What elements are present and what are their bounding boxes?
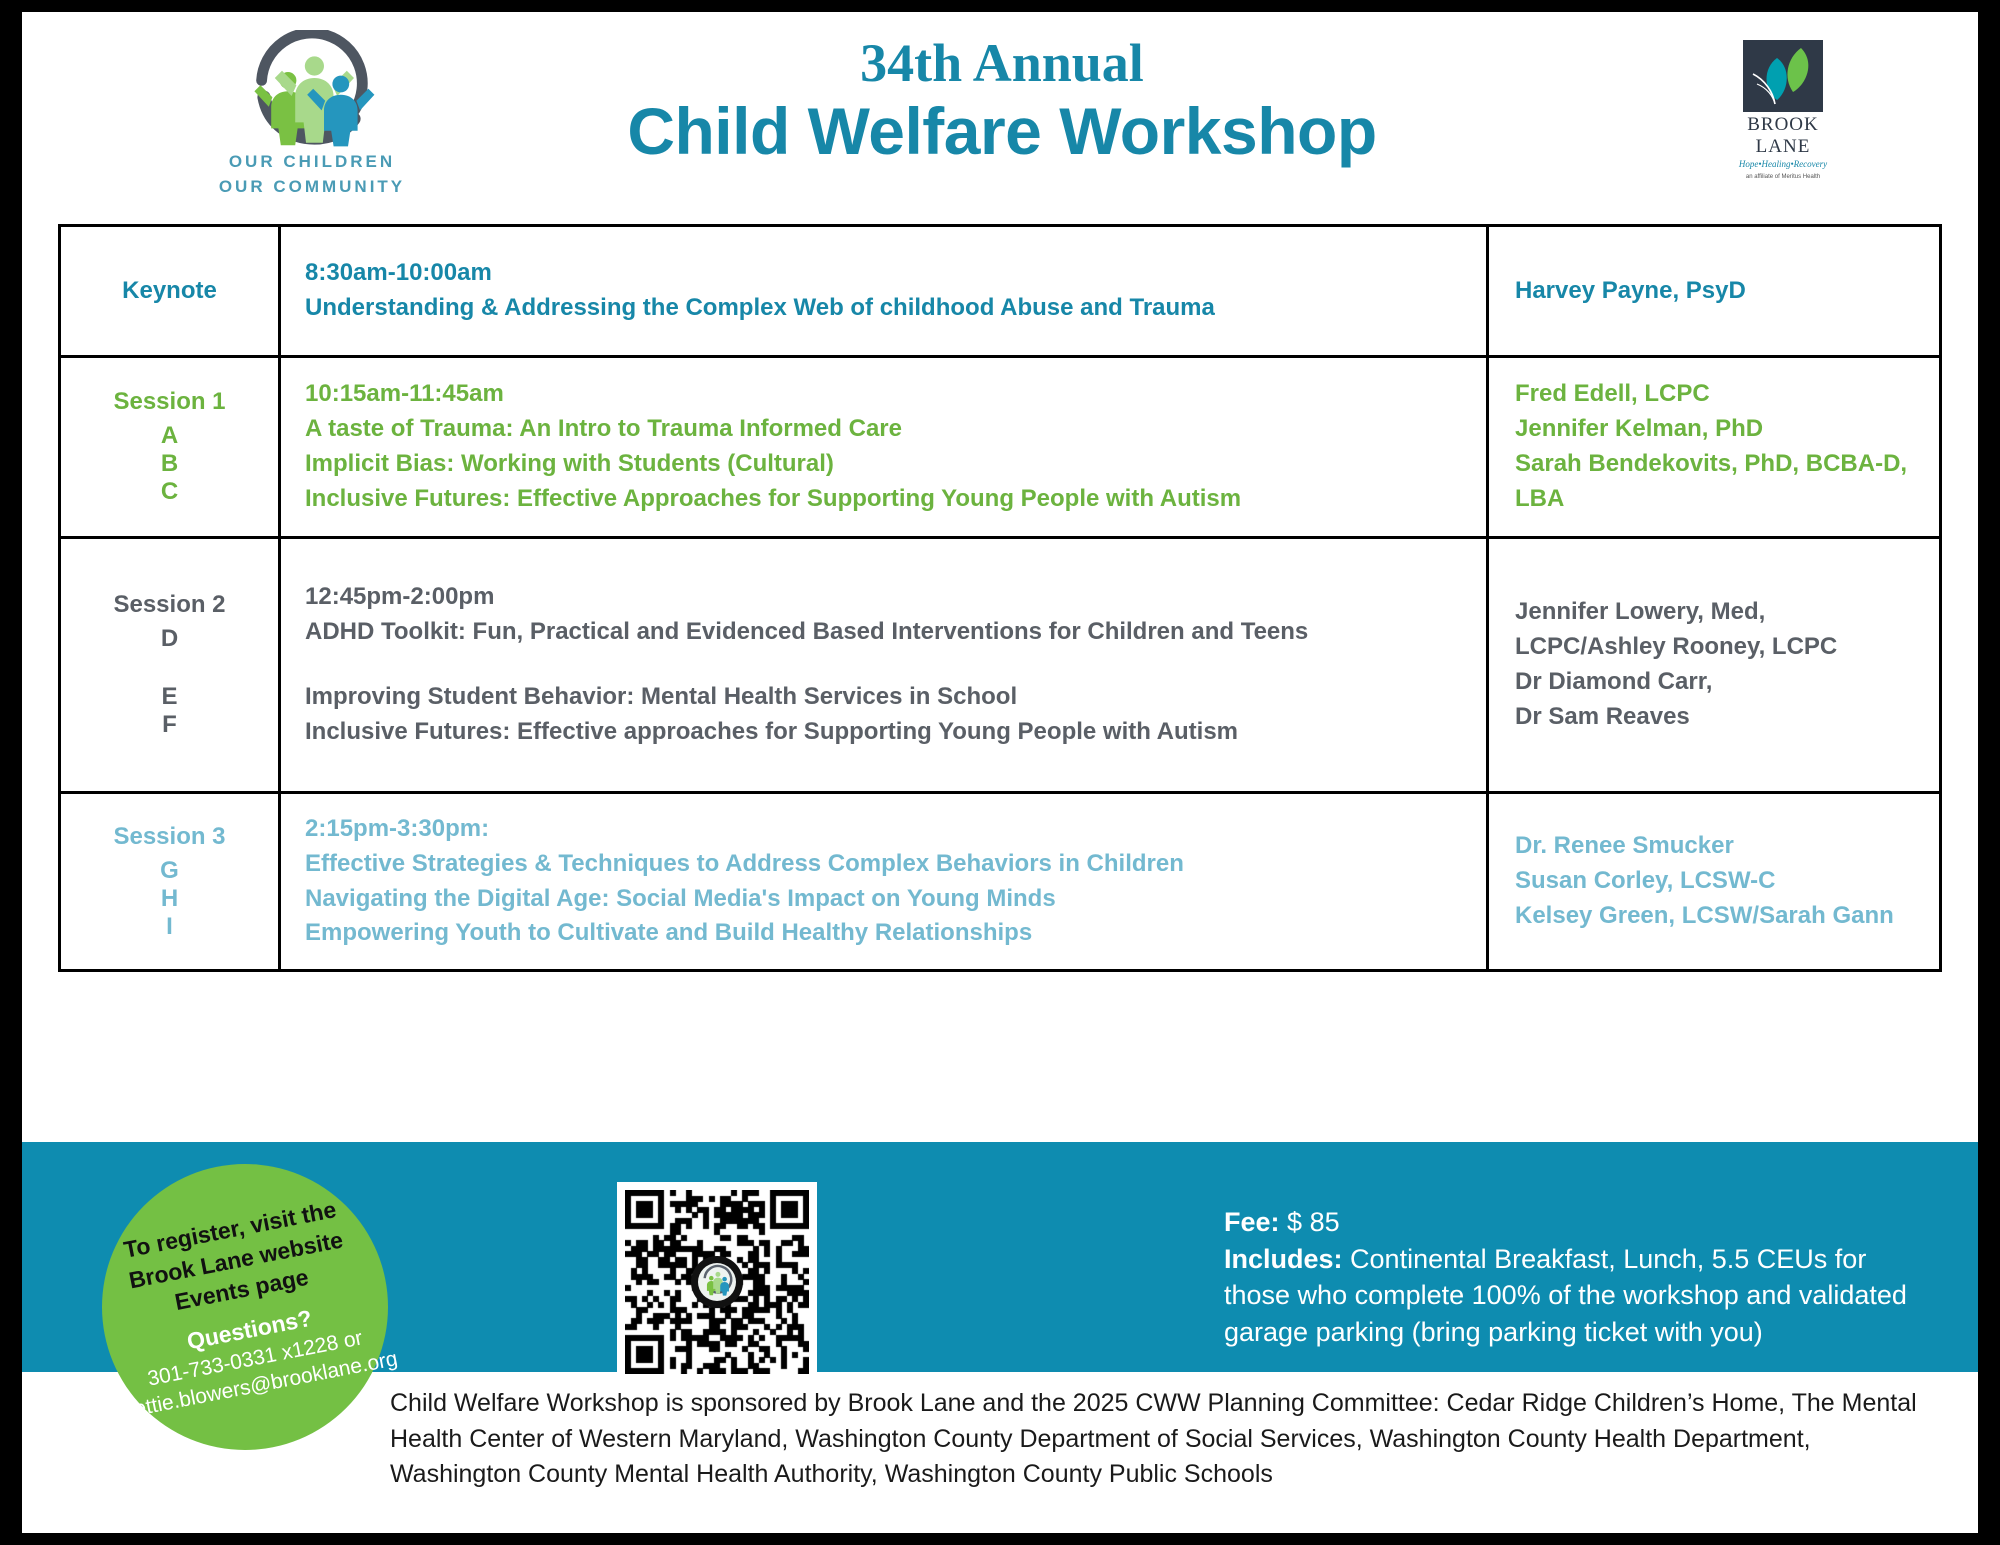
header: OUR CHILDREN OUR COMMUNITY 34th Annual C… xyxy=(22,12,1978,217)
session-title: Understanding & Addressing the Complex W… xyxy=(305,291,1462,326)
session-letter: D xyxy=(67,625,272,653)
session-title: Improving Student Behavior: Mental Healt… xyxy=(305,680,1462,715)
session-letter: I xyxy=(67,913,272,941)
sponsor-footer: Child Welfare Workshop is sponsored by B… xyxy=(390,1386,1948,1493)
presenter-name: LCPC/Ashley Rooney, LCPC xyxy=(1515,630,1913,665)
logo-tagline-line2: OUR COMMUNITY xyxy=(182,175,442,200)
row-label-session-2: Session 2 D E F xyxy=(61,539,281,791)
fee-info: Fee: $ 85 Includes: Continental Breakfas… xyxy=(1224,1204,1914,1351)
session-letter: B xyxy=(67,450,272,478)
our-children-logo-icon xyxy=(237,30,387,150)
brook-lane-affiliate: an affiliate of Meritus Health xyxy=(1708,174,1858,180)
session-title: ADHD Toolkit: Fun, Practical and Evidenc… xyxy=(305,615,1462,650)
schedule-table: Keynote 8:30am-10:00am Understanding & A… xyxy=(58,224,1942,972)
row-presenters-session-2: Jennifer Lowery, Med, LCPC/Ashley Rooney… xyxy=(1489,539,1939,791)
presenter-name: Sarah Bendekovits, PhD, BCBA-D, xyxy=(1515,447,1913,482)
title-block: 34th Annual Child Welfare Workshop xyxy=(502,36,1502,173)
session-title: Inclusive Futures: Effective Approaches … xyxy=(305,482,1462,517)
session-time: 2:15pm-3:30pm: xyxy=(305,812,1462,847)
session-title: A taste of Trauma: An Intro to Trauma In… xyxy=(305,412,1462,447)
presenter-name: Jennifer Kelman, PhD xyxy=(1515,412,1913,447)
session-time: 12:45pm-2:00pm xyxy=(305,580,1462,615)
session-time: 8:30am-10:00am xyxy=(305,256,1462,291)
session-letter: C xyxy=(67,478,272,506)
row-label-keynote: Keynote xyxy=(61,227,281,355)
row-label-session-1: Session 1 A B C xyxy=(61,358,281,536)
presenter-name: Dr Sam Reaves xyxy=(1515,700,1913,735)
presenter-name: Dr Diamond Carr, xyxy=(1515,665,1913,700)
presenter-name: Susan Corley, LCSW-C xyxy=(1515,864,1913,899)
page-title: Child Welfare Workshop xyxy=(502,90,1502,173)
our-children-our-community-logo: OUR CHILDREN OUR COMMUNITY xyxy=(182,30,442,199)
brook-lane-name-line2: LANE xyxy=(1708,137,1858,156)
session-letter: E xyxy=(67,683,272,711)
session-title: Effective Strategies & Techniques to Add… xyxy=(305,847,1462,882)
session-title: Inclusive Futures: Effective approaches … xyxy=(305,715,1462,750)
table-row: Session 1 A B C 10:15am-11:45am A taste … xyxy=(61,358,1939,539)
row-presenters-keynote: Harvey Payne, PsyD xyxy=(1489,227,1939,355)
includes-label: Includes: xyxy=(1224,1244,1343,1274)
session-time: 10:15am-11:45am xyxy=(305,377,1462,412)
row-presenters-session-3: Dr. Renee Smucker Susan Corley, LCSW-C K… xyxy=(1489,794,1939,969)
logo-tagline-line1: OUR CHILDREN xyxy=(182,150,442,175)
table-row: Session 2 D E F 12:45pm-2:00pm ADHD Tool… xyxy=(61,539,1939,794)
flyer-page: OUR CHILDREN OUR COMMUNITY 34th Annual C… xyxy=(22,12,1978,1533)
brook-lane-tagline: Hope•Healing•Recovery xyxy=(1708,159,1858,169)
session-title: Empowering Youth to Cultivate and Build … xyxy=(305,916,1462,951)
fee-label: Fee: xyxy=(1224,1207,1280,1237)
row-sessions-session-1: 10:15am-11:45am A taste of Trauma: An In… xyxy=(281,358,1489,536)
register-callout[interactable]: To register, visit the Brook Lane websit… xyxy=(102,1164,388,1450)
session-label: Session 3 xyxy=(67,823,272,851)
qr-code-pattern xyxy=(625,1190,809,1374)
brook-lane-name-line1: BROOK xyxy=(1708,115,1858,134)
session-letter: A xyxy=(67,422,272,450)
row-spacer xyxy=(67,653,272,683)
session-label: Session 1 xyxy=(67,388,272,416)
session-title: Navigating the Digital Age: Social Media… xyxy=(305,882,1462,917)
qr-center-logo-icon xyxy=(691,1256,743,1308)
presenter-name: Fred Edell, LCPC xyxy=(1515,377,1913,412)
session-label: Keynote xyxy=(67,277,272,305)
brook-lane-logo: BROOK LANE Hope•Healing•Recovery an affi… xyxy=(1708,40,1858,180)
page-subtitle: 34th Annual xyxy=(502,36,1502,90)
row-presenters-session-1: Fred Edell, LCPC Jennifer Kelman, PhD Sa… xyxy=(1489,358,1939,536)
qr-code[interactable] xyxy=(617,1182,817,1382)
presenter-name: Jennifer Lowery, Med, xyxy=(1515,595,1913,630)
presenter-name: LBA xyxy=(1515,482,1913,517)
presenter-name: Kelsey Green, LCSW/Sarah Gann xyxy=(1515,899,1913,934)
row-sessions-keynote: 8:30am-10:00am Understanding & Addressin… xyxy=(281,227,1489,355)
session-letter: F xyxy=(67,711,272,739)
session-letter: G xyxy=(67,857,272,885)
row-sessions-session-2: 12:45pm-2:00pm ADHD Toolkit: Fun, Practi… xyxy=(281,539,1489,791)
table-row: Session 3 G H I 2:15pm-3:30pm: Effective… xyxy=(61,794,1939,969)
brook-lane-leaf-icon xyxy=(1743,40,1823,112)
session-label: Session 2 xyxy=(67,591,272,619)
presenter-name: Harvey Payne, PsyD xyxy=(1515,274,1913,309)
row-sessions-session-3: 2:15pm-3:30pm: Effective Strategies & Te… xyxy=(281,794,1489,969)
table-row: Keynote 8:30am-10:00am Understanding & A… xyxy=(61,227,1939,358)
row-label-session-3: Session 3 G H I xyxy=(61,794,281,969)
session-letter: H xyxy=(67,885,272,913)
fee-amount: $ 85 xyxy=(1287,1207,1340,1237)
row-spacer xyxy=(305,650,1462,680)
presenter-name: Dr. Renee Smucker xyxy=(1515,829,1913,864)
session-title: Implicit Bias: Working with Students (Cu… xyxy=(305,447,1462,482)
